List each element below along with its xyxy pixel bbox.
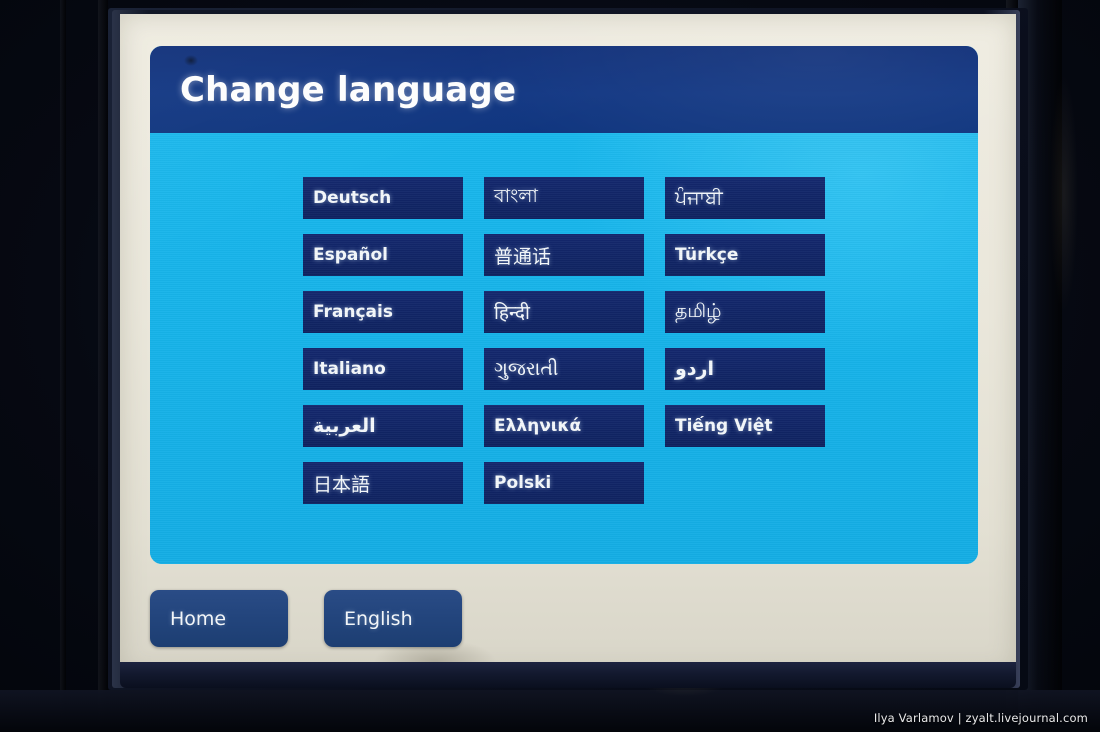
language-button-turkce[interactable]: Türkçe (665, 234, 825, 276)
language-label: தமிழ் (675, 300, 721, 325)
screen-header-bar: Change language (150, 46, 978, 133)
footer-button-bar: Home English (150, 590, 462, 647)
home-button-label: Home (170, 608, 226, 630)
language-button-francais[interactable]: Français (303, 291, 463, 333)
faceplate-smudge (1050, 74, 1078, 314)
language-label: Italiano (313, 359, 386, 379)
language-label: اردو (675, 358, 714, 380)
language-row: Français हिन्दी தமிழ் (303, 291, 833, 333)
page-title: Change language (180, 70, 516, 110)
language-label: Deutsch (313, 188, 391, 208)
language-label: 日本語 (313, 470, 370, 497)
language-button-polski[interactable]: Polski (484, 462, 644, 504)
language-button-italiano[interactable]: Italiano (303, 348, 463, 390)
language-label: Tiếng Việt (675, 416, 772, 436)
language-button-deutsch[interactable]: Deutsch (303, 177, 463, 219)
language-button-vietnamese[interactable]: Tiếng Việt (665, 405, 825, 447)
language-label: हिन्दी (494, 299, 530, 325)
language-label: ગુજરાતી (494, 358, 558, 380)
language-row: Italiano ગુજરાતી اردو (303, 348, 833, 390)
kiosk-photo: Change language Deutsch বাংলা ਪੰਜਾਬੀ (0, 0, 1100, 732)
language-label: العربية (313, 415, 376, 437)
language-button-urdu[interactable]: اردو (665, 348, 825, 390)
screen-blemish (184, 55, 198, 66)
language-button-hindi[interactable]: हिन्दी (484, 291, 644, 333)
language-label: বাংলা (494, 182, 538, 214)
english-button-label: English (344, 608, 413, 630)
language-label: Polski (494, 473, 551, 493)
language-button-arabic[interactable]: العربية (303, 405, 463, 447)
screen-body: Deutsch বাংলা ਪੰਜਾਬੀ Español 普通话 (150, 133, 978, 564)
photo-watermark: Ilya Varlamov | zyalt.livejournal.com (874, 711, 1088, 725)
english-button[interactable]: English (324, 590, 462, 647)
language-label: Español (313, 245, 388, 265)
language-row: 日本語 Polski (303, 462, 833, 504)
language-row: العربية Ελληνικά Tiếng Việt (303, 405, 833, 447)
language-label: 普通话 (494, 242, 551, 269)
language-label: ਪੰਜਾਬੀ (675, 187, 723, 209)
language-button-bengali[interactable]: বাংলা (484, 177, 644, 219)
language-label: Français (313, 302, 393, 322)
home-button[interactable]: Home (150, 590, 288, 647)
language-row: Deutsch বাংলা ਪੰਜਾਬੀ (303, 177, 833, 219)
language-button-gujarati[interactable]: ગુજરાતી (484, 348, 644, 390)
language-label: Türkçe (675, 245, 738, 265)
language-button-punjabi[interactable]: ਪੰਜਾਬੀ (665, 177, 825, 219)
language-grid: Deutsch বাংলা ਪੰਜਾਬੀ Español 普通话 (303, 177, 833, 519)
faceplate-bottom-lip (120, 662, 1016, 688)
language-row: Español 普通话 Türkçe (303, 234, 833, 276)
housing-seam-left (60, 0, 66, 732)
language-button-greek[interactable]: Ελληνικά (484, 405, 644, 447)
lcd-screen: Change language Deutsch বাংলা ਪੰਜਾਬੀ (150, 46, 978, 564)
language-button-tamil[interactable]: தமிழ் (665, 291, 825, 333)
language-button-espanol[interactable]: Español (303, 234, 463, 276)
housing-seam-left-inner (98, 0, 108, 732)
language-slot-empty (665, 462, 825, 504)
language-button-japanese[interactable]: 日本語 (303, 462, 463, 504)
language-label: Ελληνικά (494, 416, 581, 436)
language-button-mandarin[interactable]: 普通话 (484, 234, 644, 276)
